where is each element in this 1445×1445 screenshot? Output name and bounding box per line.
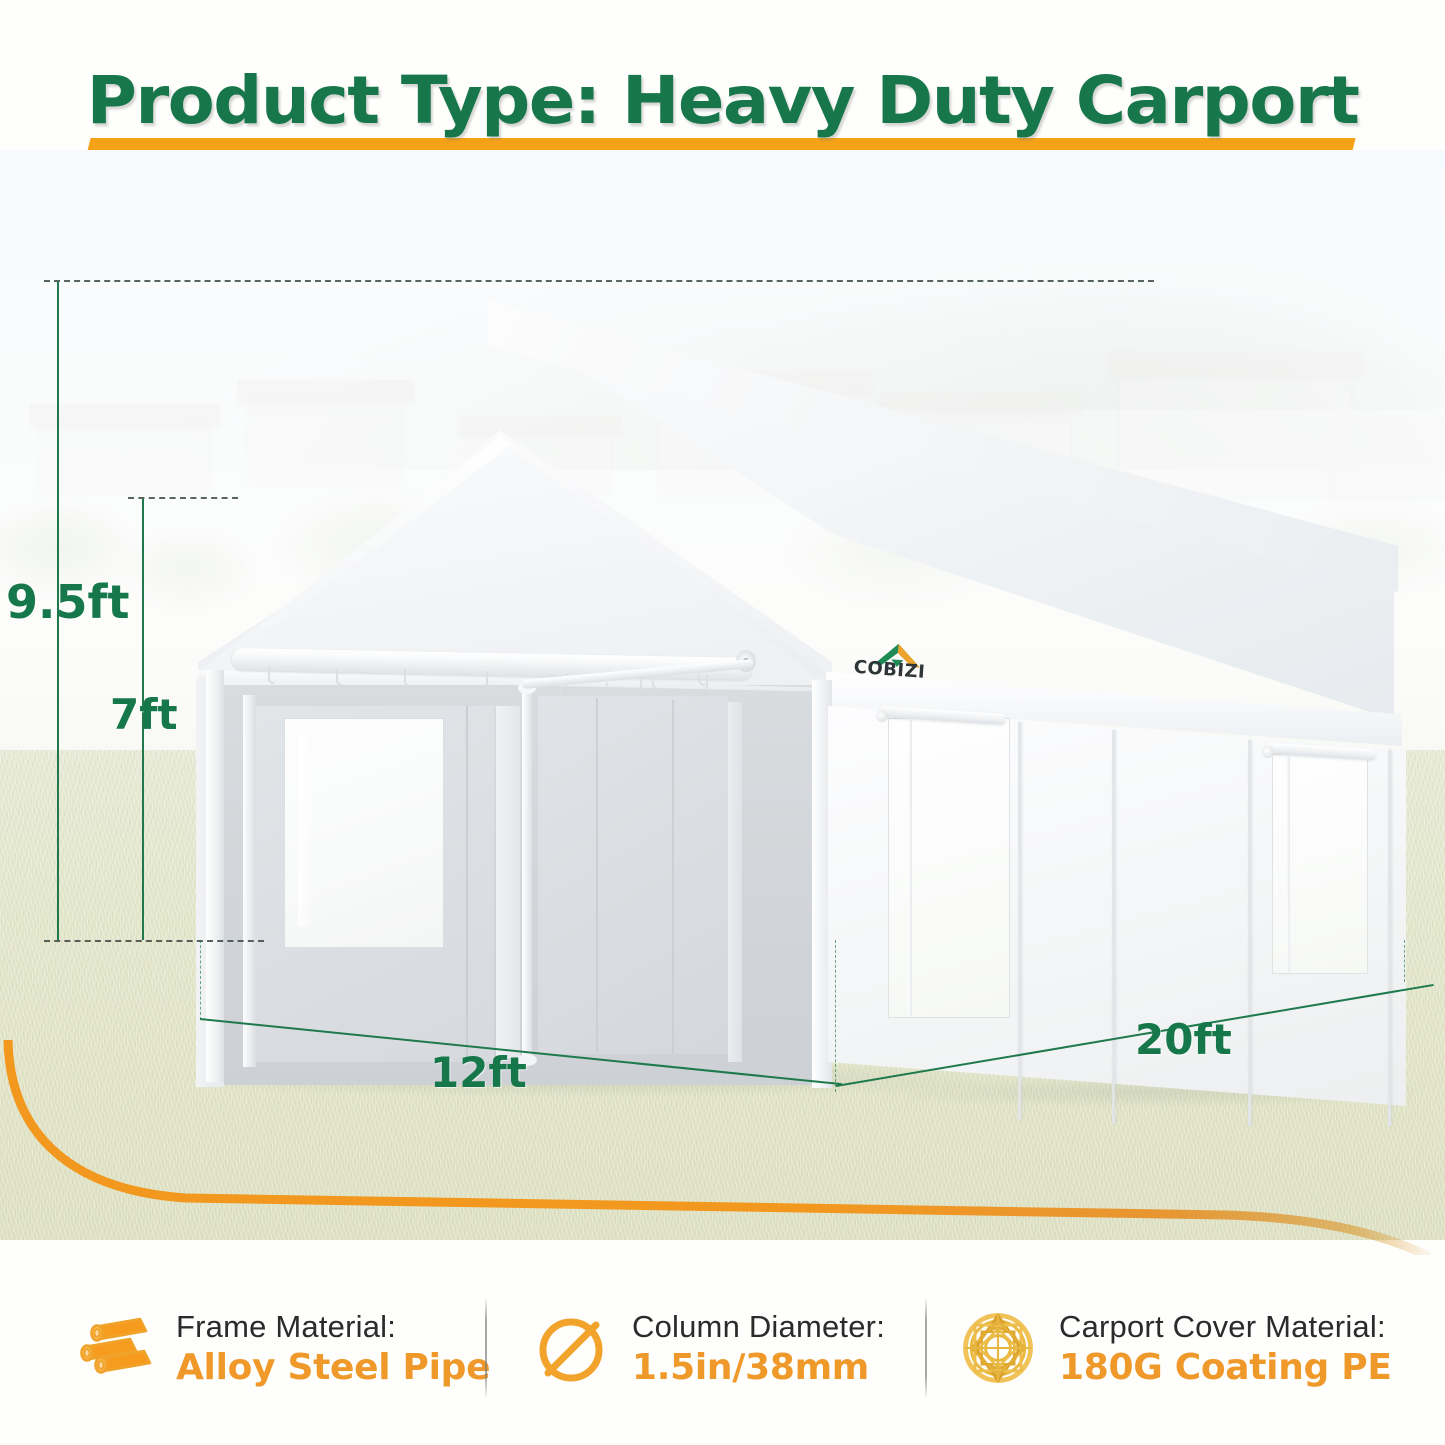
feature-value: 180G Coating PE — [1059, 1347, 1392, 1388]
feature-frame-material: Frame Material: Alloy Steel Pipe — [72, 1288, 490, 1408]
feature-text: Carport Cover Material: 180G Coating PE — [1059, 1309, 1392, 1388]
infographic-page: Product Type: Heavy Duty Carport — [0, 0, 1445, 1445]
dim-label-width: 12ft — [430, 1048, 527, 1097]
steel-pipes-icon — [72, 1305, 158, 1391]
dim-label-peak-height: 9.5ft — [6, 575, 130, 629]
feature-value: 1.5in/38mm — [632, 1347, 885, 1388]
dim-guide-eave — [128, 497, 238, 499]
feature-text: Frame Material: Alloy Steel Pipe — [176, 1309, 490, 1388]
feature-text: Column Diameter: 1.5in/38mm — [632, 1309, 885, 1388]
feature-label: Carport Cover Material: — [1059, 1309, 1392, 1345]
feature-divider-2 — [925, 1300, 927, 1396]
dim-label-length: 20ft — [1135, 1015, 1232, 1064]
feature-column-diameter: Column Diameter: 1.5in/38mm — [528, 1288, 885, 1408]
feature-label: Column Diameter: — [632, 1309, 885, 1345]
feature-value: Alloy Steel Pipe — [176, 1347, 490, 1388]
feature-row: Frame Material: Alloy Steel Pipe Column … — [0, 1288, 1445, 1428]
dim-drop-right-corner — [1404, 940, 1405, 982]
diameter-symbol-icon — [528, 1305, 614, 1391]
feature-label: Frame Material: — [176, 1309, 490, 1345]
dim-drop-front-corner — [835, 940, 836, 1092]
dim-guide-ground — [44, 940, 264, 942]
dimension-overlay: 9.5ft 7ft 12ft 20ft — [0, 0, 1445, 1445]
dim-label-eave-height: 7ft — [110, 690, 178, 739]
feature-cover-material: Carport Cover Material: 180G Coating PE — [955, 1288, 1392, 1408]
dim-drop-left-corner — [200, 940, 201, 1020]
feature-divider-1 — [485, 1300, 487, 1396]
woven-knot-icon — [955, 1305, 1041, 1391]
dim-guide-peak — [44, 280, 1154, 282]
